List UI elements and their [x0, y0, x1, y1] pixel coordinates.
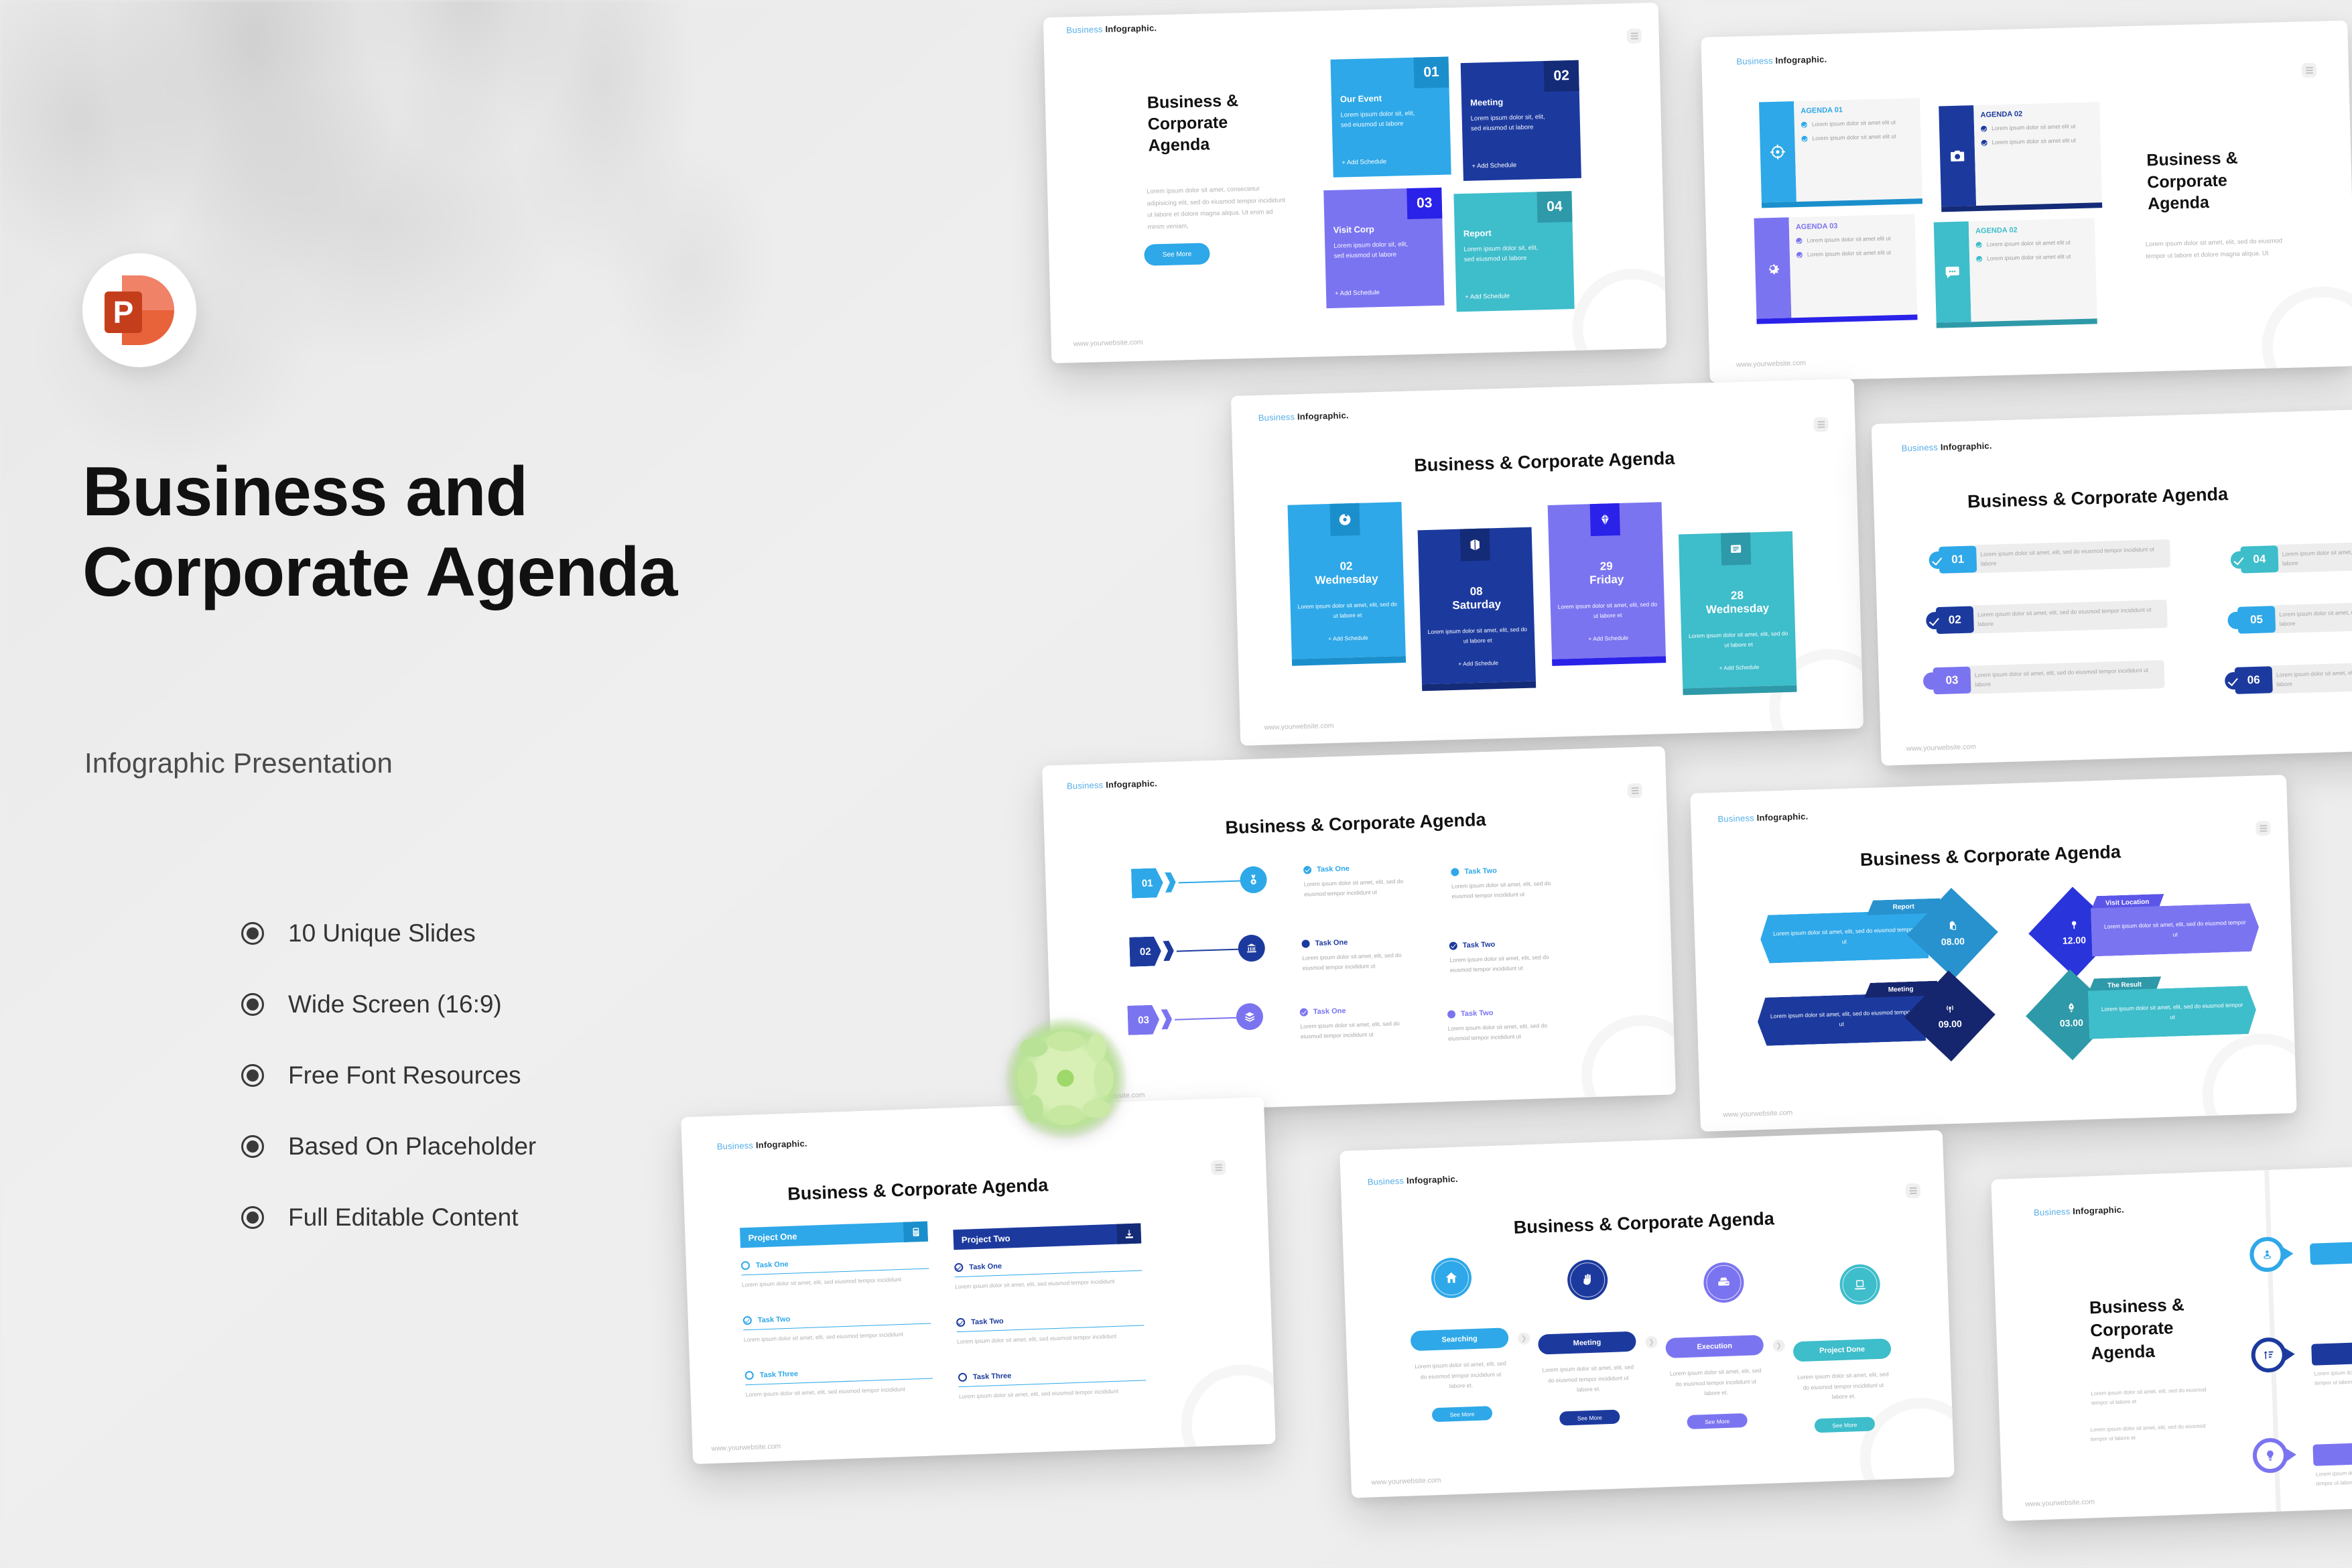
- agenda-card[interactable]: 02 Meeting Lorem ipsum dolor sit, elit, …: [1461, 60, 1581, 181]
- step-desc: Lorem ipsum dolor sit amet, elit, sed do…: [1667, 1366, 1766, 1400]
- slide-logo: Business Infographic.: [717, 1138, 807, 1152]
- card-desc: Lorem ipsum dolor sit amet, elit, sed do…: [1688, 629, 1789, 652]
- info-arrow: Lorem ipsum dolor sit amet, elit, sed do…: [2088, 986, 2257, 1039]
- step-pill[interactable]: Project Done: [1793, 1338, 1892, 1362]
- task-name: Task Two: [1461, 1009, 1494, 1019]
- feature-label: Full Editable Content: [288, 1203, 518, 1232]
- list-item: Lorem ipsum dolor sit amet elit ut: [1801, 117, 1914, 129]
- timeline-card: [2310, 1239, 2352, 1265]
- task-block: Task Two Lorem ipsum dolor sit amet, eli…: [1449, 939, 1551, 975]
- bullet-icon: [241, 1206, 264, 1229]
- table-row[interactable]: 01 Lorem ipsum dolor sit amet, elit, sed…: [1929, 539, 2170, 575]
- slide-preview-9[interactable]: Business Infographic. Business & Corpora…: [1991, 1163, 2352, 1521]
- website-url: www.yourwebsite.com: [1371, 1476, 1441, 1487]
- card-title: AGENDA 02: [1975, 224, 2089, 235]
- date-number: 08Saturday: [1419, 584, 1534, 614]
- slide-title: Business & Corporate Agenda: [1342, 1202, 1946, 1244]
- task-desc: Lorem ipsum dolor sit amet, elit, sed ei…: [955, 1277, 1142, 1291]
- bullet-icon: [241, 1135, 264, 1158]
- time-value: 09.00: [1938, 1018, 1962, 1029]
- divider: [955, 1270, 1142, 1277]
- feature-list: 10 Unique Slides Wide Screen (16:9) Free…: [241, 898, 536, 1253]
- divider: [745, 1378, 933, 1385]
- website-url: www.yourwebsite.com: [1906, 742, 1976, 753]
- hamburger-menu-icon[interactable]: [2256, 821, 2271, 836]
- hamburger-menu-icon[interactable]: [1627, 783, 1642, 799]
- step-pill[interactable]: Meeting: [1538, 1331, 1636, 1355]
- chevron-right-icon: ❯: [1772, 1340, 1785, 1352]
- step-number: 03: [1127, 1004, 1159, 1035]
- agenda-item-card[interactable]: AGENDA 02 Lorem ipsum dolor sit amet eli…: [1934, 218, 2097, 322]
- task-name: Task Two: [1463, 941, 1496, 950]
- decorative-swirl: [1179, 1362, 1276, 1464]
- layers-icon: [1236, 1003, 1263, 1031]
- task-name: Task One: [1317, 864, 1350, 874]
- task-name: Task One: [969, 1262, 1002, 1271]
- project-name: Project Two: [954, 1229, 1117, 1245]
- step-chevron[interactable]: 02: [1129, 936, 1177, 967]
- row-text: Lorem ipsum dolor sit amet, elit, sed do…: [1967, 660, 2164, 694]
- slide-title: Business & Corporate Agenda: [787, 1175, 1049, 1205]
- step-label: Meeting: [1573, 1338, 1601, 1347]
- slide2-title: Business & Corporate Agenda: [2146, 145, 2302, 214]
- list-item: Wide Screen (16:9): [241, 969, 536, 1040]
- tab-text: The Result: [2107, 981, 2142, 990]
- task-block: Task One Lorem ipsum dolor sit amet, eli…: [1301, 937, 1402, 973]
- slide1-title: Business & Corporate Agenda: [1147, 89, 1276, 157]
- slide-preview-4[interactable]: Business Infographic. Business & Corpora…: [1872, 407, 2352, 765]
- task-desc: Lorem ipsum dolor sit amet, elit, sed ei…: [746, 1385, 933, 1398]
- card-title: Report: [1463, 228, 1492, 239]
- step-pill[interactable]: Searching: [1411, 1327, 1509, 1351]
- step-label: Searching: [1441, 1335, 1478, 1344]
- agenda-item-card[interactable]: AGENDA 02 Lorem ipsum dolor sit amet eli…: [1939, 102, 2102, 206]
- agenda-item-card[interactable]: AGENDA 01 Lorem ipsum dolor sit amet eli…: [1759, 98, 1922, 202]
- bullet-text: Lorem ipsum dolor sit amet elit ut: [1807, 249, 1892, 259]
- check-icon: [1981, 126, 1987, 132]
- project-name: Project One: [740, 1227, 903, 1243]
- task-desc: Lorem ipsum dolor sit amet, elit, sed ei…: [959, 1387, 1147, 1400]
- task-name: Task Two: [758, 1315, 791, 1324]
- website-url: www.yourwebsite.com: [1736, 359, 1806, 369]
- gear-icon: [1754, 217, 1792, 318]
- website-url: www.yourwebsite.com: [1264, 722, 1334, 732]
- diamond-icon: [1590, 503, 1620, 536]
- slide1-lead: Lorem ipsum dolor sit amet, consectetur …: [1147, 182, 1292, 233]
- slide-logo: Business Infographic.: [2034, 1204, 2124, 1218]
- card-title: Meeting: [1470, 97, 1503, 108]
- bulb-icon[interactable]: [2252, 1437, 2288, 1474]
- info-arrow: Lorem ipsum dolor sit amet, elit, sed do…: [1757, 992, 1926, 1046]
- powerpoint-logo: P: [82, 253, 196, 367]
- add-schedule-link[interactable]: + Add Schedule: [1342, 158, 1386, 167]
- table-row[interactable]: 06 Lorem ipsum dolor sit amet, elit, sed…: [2225, 660, 2352, 696]
- time-diamond[interactable]: 08.00: [1907, 888, 1998, 979]
- hamburger-menu-icon[interactable]: [1813, 417, 1829, 432]
- add-schedule-link[interactable]: + Add Schedule: [1551, 633, 1665, 643]
- slide-preview-6[interactable]: Business Infographic. Business & Corpora…: [1690, 775, 2296, 1132]
- check-icon: [1796, 238, 1802, 244]
- radio-icon[interactable]: [741, 1261, 750, 1270]
- divider: [959, 1380, 1147, 1387]
- card-desc: Lorem ipsum dolor sit, elit, sed eiusmod…: [1340, 109, 1418, 131]
- bullet-text: Lorem ipsum dolor sit amet elit ut: [1991, 122, 2076, 133]
- decorative-swirl: [2201, 1032, 2297, 1132]
- slide9-title: Business & Corporate Agenda: [2089, 1293, 2212, 1365]
- step-number: 01: [1131, 868, 1163, 898]
- chevron-right-icon: [1161, 1009, 1173, 1029]
- chevron-right-icon: [1163, 941, 1174, 961]
- see-more-button[interactable]: See More: [1559, 1410, 1620, 1426]
- slide-title: Business & Corporate Agenda: [1967, 484, 2229, 513]
- decorative-swirl: [1571, 267, 1667, 363]
- list-item: Lorem ipsum dolor sit amet elit ut: [1801, 132, 1914, 144]
- card-desc: Lorem ipsum dolor sit amet, elit, sed do…: [1557, 599, 1658, 623]
- box-icon: [1460, 528, 1490, 561]
- card-desc: Lorem ipsum dolor sit, elit, sed eiusmod…: [1463, 243, 1541, 265]
- table-row[interactable]: 03 Lorem ipsum dolor sit amet, elit, sed…: [1922, 660, 2164, 696]
- title-line-1: Business and: [82, 452, 967, 533]
- agenda-card[interactable]: 03 Visit Corp Lorem ipsum dolor sit, eli…: [1323, 188, 1444, 308]
- home-icon: [1431, 1257, 1472, 1299]
- list-item: Free Font Resources: [241, 1040, 536, 1111]
- slide-preview-1[interactable]: Business Infographic. Business & Corpora…: [1043, 3, 1667, 363]
- row-text: Lorem ipsum dolor sit amet, elit, sed do…: [1971, 600, 2168, 634]
- radio-icon[interactable]: [958, 1373, 967, 1382]
- list-item: Lorem ipsum dolor sit amet elit ut: [1975, 238, 2089, 250]
- decorative-swirl: [2260, 285, 2352, 383]
- time-value: 08.00: [1941, 935, 1965, 947]
- check-icon: [1449, 941, 1457, 950]
- download-icon: [1116, 1223, 1141, 1244]
- project-header[interactable]: Project One: [740, 1222, 928, 1248]
- slide9-lead-2: Lorem ipsum dolor sit amet, elit, sed do…: [2090, 1421, 2213, 1445]
- timeline-card: [2312, 1440, 2352, 1466]
- slide-title: Business & Corporate Agenda: [1044, 803, 1668, 844]
- slide-logo: Business Infographic.: [1736, 54, 1827, 67]
- bullet-text: Lorem ipsum dolor sit amet elit ut: [1987, 253, 2071, 263]
- slide-logo: Business Infographic.: [1717, 811, 1808, 824]
- date-number: 29Friday: [1549, 558, 1664, 588]
- task-block: Task Three Lorem ipsum dolor sit amet, e…: [745, 1364, 933, 1398]
- card-title: AGENDA 01: [1801, 104, 1914, 115]
- medal-icon: [1240, 866, 1267, 893]
- see-more-button[interactable]: See More: [1144, 243, 1210, 265]
- check-icon: [1801, 136, 1807, 142]
- card-desc: Lorem ipsum dolor sit, elit, sed eiusmod…: [1333, 239, 1411, 261]
- arrow-text: Lorem ipsum dolor sit amet, elit, sed do…: [1770, 1007, 1914, 1032]
- slide-preview-8[interactable]: Business Infographic. Business & Corpora…: [1340, 1130, 1955, 1498]
- slide-preview-7[interactable]: Business Infographic. Business & Corpora…: [681, 1097, 1276, 1464]
- table-row[interactable]: 04 Lorem ipsum dolor sit amet, elit, sed…: [2230, 539, 2352, 574]
- list-item: Lorem ipsum dolor sit amet elit ut: [1981, 121, 2094, 133]
- check-icon: [1796, 252, 1803, 258]
- website-url: www.yourwebsite.com: [1723, 1109, 1792, 1119]
- connector-line: [1175, 1017, 1240, 1021]
- powerpoint-letter: P: [105, 291, 142, 333]
- feature-label: Free Font Resources: [288, 1061, 521, 1090]
- arrow-text: Lorem ipsum dolor sit amet, elit, sed do…: [2100, 1000, 2244, 1025]
- row-text: Lorem ipsum dolor sit amet, elit, sed do…: [1973, 539, 2170, 574]
- bullet-icon: [241, 922, 264, 945]
- task-name: Task One: [1313, 1007, 1346, 1017]
- website-url: www.yourwebsite.com: [2025, 1498, 2095, 1508]
- date-number: 02Wednesday: [1289, 558, 1404, 588]
- step-label: Execution: [1697, 1342, 1732, 1352]
- date-card[interactable]: 02Wednesday Lorem ipsum dolor sit amet, …: [1287, 502, 1405, 659]
- task-desc: Lorem ipsum dolor sit amet, elit, sed do…: [1304, 876, 1405, 899]
- tab-text: Meeting: [1888, 985, 1914, 993]
- list-item: Full Editable Content: [241, 1182, 536, 1253]
- task-name: Task One: [756, 1260, 789, 1269]
- slide9-lead-1: Lorem ipsum dolor sit amet, elit, sed do…: [2091, 1385, 2213, 1409]
- connector-line: [1177, 948, 1242, 952]
- check-icon: [1976, 256, 1982, 262]
- divider: [957, 1325, 1145, 1332]
- see-more-button[interactable]: See More: [1432, 1406, 1493, 1422]
- slide-title: Business & Corporate Agenda: [1692, 836, 2289, 876]
- divider: [741, 1268, 929, 1276]
- step-desc: Lorem ipsum dolor sit amet, elit, sed do…: [1539, 1362, 1638, 1397]
- website-url: www.yourwebsite.com: [711, 1442, 781, 1453]
- slide-logo: Business Infographic.: [1066, 23, 1157, 35]
- card-number: 04: [1537, 191, 1572, 222]
- card-desc: Lorem ipsum dolor sit, elit, sed eiusmod…: [1471, 112, 1549, 134]
- bullet-icon: [241, 1064, 264, 1087]
- card-number: 03: [1407, 188, 1442, 219]
- list-item: 10 Unique Slides: [241, 898, 536, 969]
- bullet-icon: [241, 993, 264, 1016]
- step-number: 02: [1129, 936, 1161, 966]
- website-url: www.yourwebsite.com: [1073, 338, 1143, 348]
- bullet-icon: [1447, 1010, 1455, 1019]
- feature-label: Wide Screen (16:9): [288, 990, 502, 1019]
- task-desc: Lorem ipsum dolor sit amet, elit, sed do…: [1449, 952, 1551, 975]
- check-icon: [1303, 866, 1311, 874]
- time-value: 03.00: [2060, 1017, 2084, 1028]
- decorative-swirl: [1579, 1013, 1676, 1114]
- clap-icon: [1567, 1259, 1608, 1301]
- check-icon: [1300, 1008, 1308, 1016]
- slide-preview-3[interactable]: Business Infographic. Business & Corpora…: [1231, 379, 1864, 746]
- card-number: 01: [1413, 57, 1449, 88]
- time-value: 12.00: [2063, 934, 2087, 945]
- calculator-icon: [903, 1222, 928, 1242]
- camera-icon: [1939, 105, 1976, 206]
- step-chevron[interactable]: 01: [1131, 867, 1179, 898]
- laptop-icon: [1839, 1264, 1881, 1305]
- card-desc: Lorem ipsum dolor sit amet, elit, sed do…: [1427, 625, 1528, 648]
- timeline-card: [2311, 1340, 2352, 1366]
- add-schedule-link[interactable]: + Add Schedule: [1465, 292, 1510, 301]
- task-block: Task One Lorem ipsum dolor sit amet, eli…: [954, 1256, 1142, 1290]
- project-header[interactable]: Project Two: [953, 1223, 1141, 1250]
- check-icon: [1981, 140, 1987, 146]
- card-desc: Lorem ipsum dolor sit amet, elit, sed do…: [1297, 599, 1398, 623]
- bullet-text: Lorem ipsum dolor sit amet elit ut: [1812, 118, 1896, 129]
- step-pill[interactable]: Execution: [1665, 1335, 1764, 1358]
- page-subtitle: Infographic Presentation: [84, 747, 393, 779]
- radio-checked-icon[interactable]: [743, 1316, 752, 1325]
- agenda-card[interactable]: 04 Report Lorem ipsum dolor sit, elit, s…: [1453, 191, 1574, 312]
- task-block: Task Two Lorem ipsum dolor sit amet, eli…: [956, 1311, 1145, 1345]
- step-chevron[interactable]: 03: [1127, 1004, 1175, 1035]
- task-desc: Lorem ipsum dolor sit amet, elit, sed do…: [1447, 1021, 1549, 1043]
- row-text: Lorem ipsum dolor sit amet, elit, sed do…: [2275, 539, 2352, 573]
- list-item: Lorem ipsum dolor sit amet elit ut: [1796, 234, 1909, 246]
- hamburger-menu-icon[interactable]: [2302, 63, 2317, 78]
- task-desc: Lorem ipsum dolor sit amet, elit, sed ei…: [742, 1275, 929, 1289]
- bullet-text: Lorem ipsum dolor sit amet elit ut: [1986, 238, 2071, 249]
- task-name: Task Two: [1464, 866, 1497, 876]
- timeline-desc: Lorem ipsum dolor sit amet, elit, sed do…: [2316, 1465, 2352, 1489]
- list-item: Lorem ipsum dolor sit amet elit ut: [1796, 248, 1910, 260]
- check-icon: [1801, 122, 1807, 128]
- slide-title: Business & Corporate Agenda: [1233, 443, 1857, 481]
- add-schedule-link[interactable]: + Add Schedule: [1421, 659, 1535, 669]
- step-desc: Lorem ipsum dolor sit amet, elit, sed do…: [1411, 1358, 1510, 1393]
- target-icon: [1759, 101, 1796, 202]
- card-title: Our Event: [1340, 93, 1382, 105]
- chevron-right-icon: [1165, 872, 1176, 893]
- task-desc: Lorem ipsum dolor sit amet, elit, sed do…: [1302, 950, 1403, 973]
- chevron-right-icon: ❯: [1645, 1335, 1658, 1348]
- task-desc: Lorem ipsum dolor sit amet, elit, sed do…: [1451, 878, 1553, 901]
- card-title: Visit Corp: [1333, 224, 1375, 235]
- bullet-icon: [1301, 939, 1309, 948]
- radio-checked-icon[interactable]: [954, 1263, 963, 1272]
- arrow-text: Lorem ipsum dolor sit amet, elit, sed do…: [1772, 924, 1916, 949]
- list-item: Based On Placeholder: [241, 1111, 536, 1182]
- task-block: Task Three Lorem ipsum dolor sit amet, e…: [958, 1366, 1147, 1400]
- date-card[interactable]: 29Friday Lorem ipsum dolor sit amet, eli…: [1548, 502, 1666, 659]
- see-more-button[interactable]: See More: [1687, 1413, 1748, 1429]
- slide-logo: Business Infographic.: [1258, 410, 1349, 423]
- slide-preview-2[interactable]: Business Infographic. AGENDA 01 Lorem ip…: [1701, 20, 2352, 383]
- disc-icon: [1329, 503, 1360, 536]
- feature-label: Based On Placeholder: [288, 1132, 536, 1161]
- connector-line: [1179, 880, 1244, 883]
- row-text: Lorem ipsum dolor sit amet, elit, sed do…: [2272, 600, 2352, 634]
- bank-icon: [1238, 934, 1265, 962]
- time-diamond[interactable]: 09.00: [1904, 970, 1996, 1061]
- hamburger-menu-icon[interactable]: [1211, 1160, 1226, 1175]
- task-block: Task Two Lorem ipsum dolor sit amet, eli…: [1447, 1007, 1549, 1043]
- step-label: Project Done: [1819, 1346, 1865, 1355]
- date-card[interactable]: 08Saturday Lorem ipsum dolor sit amet, e…: [1418, 527, 1536, 685]
- table-row[interactable]: 02 Lorem ipsum dolor sit amet, elit, sed…: [1926, 600, 2168, 635]
- task-name: Task One: [1315, 939, 1348, 948]
- add-schedule-link[interactable]: + Add Schedule: [1682, 663, 1796, 673]
- task-name: Task Three: [973, 1372, 1012, 1381]
- task-desc: Lorem ipsum dolor sit amet, elit, sed ei…: [744, 1330, 931, 1344]
- info-arrow: Lorem ipsum dolor sit amet, elit, sed do…: [2091, 903, 2260, 957]
- check-icon: [1976, 242, 1982, 248]
- bullet-icon: [1451, 868, 1459, 876]
- task-desc: Lorem ipsum dolor sit amet, elit, sed do…: [1300, 1019, 1401, 1041]
- add-schedule-link[interactable]: + Add Schedule: [1335, 289, 1380, 298]
- hamburger-menu-icon[interactable]: [1905, 1183, 1920, 1199]
- task-desc: Lorem ipsum dolor sit amet, elit, sed ei…: [957, 1332, 1145, 1346]
- task-block: Task One Lorem ipsum dolor sit amet, eli…: [1303, 863, 1404, 899]
- feature-label: 10 Unique Slides: [288, 919, 476, 948]
- slide-preview-5[interactable]: Business Infographic. Business & Corpora…: [1042, 746, 1676, 1114]
- task-name: Task Two: [971, 1317, 1004, 1326]
- chevron-right-icon: ❯: [1518, 1332, 1530, 1345]
- table-row[interactable]: 05 Lorem ipsum dolor sit amet, elit, sed…: [2227, 600, 2352, 635]
- timeline-desc: Lorem ipsum dolor sit amet, elit, sed do…: [2314, 1365, 2352, 1388]
- row-text: Lorem ipsum dolor sit amet, elit, sed do…: [2270, 660, 2352, 694]
- add-schedule-link[interactable]: + Add Schedule: [1472, 161, 1516, 170]
- task-name: Task Three: [760, 1370, 799, 1379]
- chat-icon: [1934, 221, 1971, 322]
- website-url: www.yourwebsite.com: [1075, 1091, 1145, 1101]
- task-block: Task Two Lorem ipsum dolor sit amet, eli…: [743, 1310, 931, 1344]
- slide2-lead: Lorem ipsum dolor sit amet, elit, sed do…: [2146, 235, 2304, 263]
- title-line-2: Corporate Agenda: [82, 533, 967, 613]
- task-block: Task One Lorem ipsum dolor sit amet, eli…: [1300, 1005, 1401, 1041]
- hamburger-menu-icon[interactable]: [1627, 28, 1642, 44]
- tab-text: Report: [1892, 903, 1914, 911]
- date-number: 28Wednesday: [1680, 588, 1794, 618]
- agenda-card[interactable]: 01 Our Event Lorem ipsum dolor sit, elit…: [1330, 57, 1451, 178]
- list-item: Lorem ipsum dolor sit amet elit ut: [1981, 136, 2095, 148]
- bullet-text: Lorem ipsum dolor sit amet elit ut: [1812, 132, 1896, 143]
- divider: [743, 1323, 931, 1331]
- add-schedule-link[interactable]: + Add Schedule: [1291, 633, 1405, 643]
- list-item: Lorem ipsum dolor sit amet elit ut: [1976, 252, 2089, 264]
- card-title: AGENDA 02: [1980, 108, 2093, 119]
- agenda-item-card[interactable]: AGENDA 03 Lorem ipsum dolor sit amet eli…: [1754, 214, 1918, 318]
- arrow-text: Lorem ipsum dolor sit amet, elit, sed do…: [2103, 917, 2247, 942]
- user-location-icon[interactable]: [2249, 1236, 2286, 1272]
- radio-icon[interactable]: [745, 1371, 754, 1380]
- date-card[interactable]: 28Wednesday Lorem ipsum dolor sit amet, …: [1679, 531, 1796, 689]
- decorative-swirl: [1858, 1396, 1955, 1498]
- step-desc: Lorem ipsum dolor sit amet, elit, sed do…: [1794, 1369, 1893, 1404]
- tab-text: Visit Location: [2105, 898, 2150, 907]
- slide-logo: Business Infographic.: [1368, 1174, 1458, 1187]
- slide-logo: Business Infographic.: [1067, 778, 1157, 791]
- info-arrow: Lorem ipsum dolor sit amet, elit, sed do…: [1760, 910, 1929, 964]
- printer-icon: [1703, 1262, 1744, 1303]
- page-title: Business and Corporate Agenda: [82, 452, 967, 612]
- slide-logo: Business Infographic.: [1901, 441, 1991, 454]
- mail-icon: [1721, 533, 1751, 566]
- task-block: Task One Lorem ipsum dolor sit amet, eli…: [741, 1255, 929, 1289]
- bullet-text: Lorem ipsum dolor sit amet elit ut: [1807, 234, 1891, 245]
- card-number: 02: [1544, 60, 1579, 92]
- card-title: AGENDA 03: [1796, 220, 1909, 231]
- sort-up-icon[interactable]: [2251, 1337, 2287, 1373]
- radio-checked-icon[interactable]: [956, 1318, 965, 1327]
- task-block: Task Two Lorem ipsum dolor sit amet, eli…: [1451, 865, 1552, 901]
- see-more-button[interactable]: See More: [1815, 1417, 1876, 1433]
- bullet-text: Lorem ipsum dolor sit amet elit ut: [1992, 136, 2077, 147]
